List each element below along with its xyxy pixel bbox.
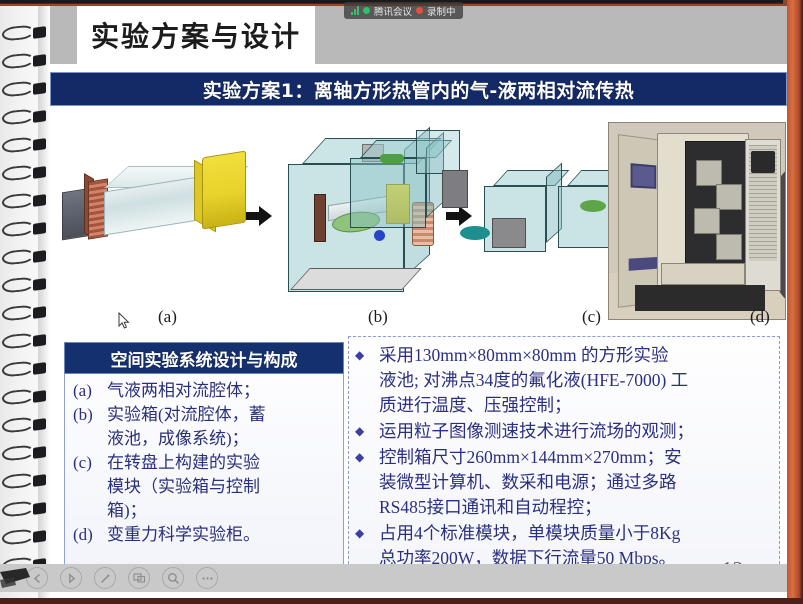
list-item-continuation: 箱)；: [73, 499, 337, 523]
bullet-line: 运用粒子图像测速技术进行流场的观测；: [379, 419, 773, 444]
bullet-item: ◆ 控制箱尺寸260mm×144mm×270mm；安 装微型计算机、数采和电源；…: [355, 445, 773, 520]
green-dot-icon: [363, 7, 370, 14]
list-item-text: 气液两相对流腔体；: [107, 379, 337, 403]
system-design-panel-header: 空间实验系统设计与构成: [64, 342, 344, 374]
capture-right-border: [787, 0, 803, 604]
diamond-bullet-icon: ◆: [355, 419, 379, 444]
list-item-text: 实验箱(对流腔体，蓄: [107, 403, 337, 427]
bullet-line: 质进行温度、压强控制；: [379, 393, 773, 418]
list-item-key: (b): [73, 403, 107, 427]
slide-title-bar: 实验方案1：离轴方形热管内的气-液两相对流传热: [50, 72, 787, 106]
mouse-cursor: [118, 312, 130, 330]
binding-ring: [2, 166, 46, 181]
figure-d: (d): [50, 114, 787, 329]
binding-ring: [2, 446, 46, 461]
binding-ring: [2, 194, 46, 209]
binding-ring: [2, 82, 46, 97]
binding-ring: [2, 110, 46, 125]
bullet-line: 液池; 对沸点34度的氟化液(HFE-7000) 工: [379, 368, 773, 393]
binding-ring: [2, 362, 46, 377]
bullet-line: 控制箱尺寸260mm×144mm×270mm；安: [379, 445, 773, 470]
overlay-mouse-cursor: [0, 566, 44, 592]
zoom-button[interactable]: [162, 567, 184, 589]
diamond-bullet-icon: ◆: [355, 445, 379, 520]
all-slides-button[interactable]: [128, 567, 150, 589]
capture-bottom-border: [0, 598, 803, 604]
figure-d-caption: (d): [750, 307, 770, 327]
binding-ring: [2, 54, 46, 69]
rack-fan: [751, 151, 775, 173]
meeting-recording-badge[interactable]: 腾讯会议 录制中: [344, 2, 463, 19]
binding-ring: [2, 26, 46, 41]
more-options-button[interactable]: [196, 567, 218, 589]
binding-ring: [2, 138, 46, 153]
slideshow-toolbar: [0, 564, 787, 592]
binding-ring: [2, 278, 46, 293]
slide-title-text: 实验方案1：离轴方形热管内的气-液两相对流传热: [203, 76, 635, 103]
list-item-text: 在转盘上构建的实验: [107, 451, 337, 475]
slide-body: 实验方案1：离轴方形热管内的气-液两相对流传热 (a): [50, 64, 787, 598]
list-item-continuation: 模块（实验箱与控制: [73, 475, 337, 499]
figure-strip: (a): [50, 114, 787, 329]
next-slide-button[interactable]: [60, 567, 82, 589]
binding-ring: [2, 222, 46, 237]
bullet-line: 采用130mm×80mm×80mm 的方形实验: [379, 343, 773, 368]
binding-ring: [2, 390, 46, 405]
list-item: (d) 变重力科学实验柜。: [73, 523, 337, 547]
list-item: (c) 在转盘上构建的实验: [73, 451, 337, 475]
binding-ring: [2, 334, 46, 349]
list-item-key: (d): [73, 523, 107, 547]
powerpoint-slide: 实验方案与设计 实验方案1：离轴方形热管内的气-液两相对流传热 (a): [0, 6, 787, 598]
bullet-item: ◆ 运用粒子图像测速技术进行流场的观测；: [355, 419, 773, 444]
rack-base-frame: [635, 285, 765, 311]
bullet-item: ◆ 采用130mm×80mm×80mm 的方形实验 液池; 对沸点34度的氟化液…: [355, 343, 773, 418]
binding-ring: [2, 306, 46, 321]
rack-drawer: [661, 263, 745, 285]
list-item-key: (a): [73, 379, 107, 403]
list-item-text: 变重力科学实验柜。: [107, 523, 337, 547]
recording-status-label: 录制中: [427, 4, 456, 18]
binding-ring: [2, 250, 46, 265]
pen-tool-button[interactable]: [94, 567, 116, 589]
specs-bullet-panel: ◆ 采用130mm×80mm×80mm 的方形实验 液池; 对沸点34度的氟化液…: [348, 336, 780, 584]
binding-ring: [2, 530, 46, 545]
list-item: (a) 气液两相对流腔体；: [73, 379, 337, 403]
binding-ring: [2, 502, 46, 517]
bullet-line: 装微型计算机、数采和电源；通过多路: [379, 470, 773, 495]
diamond-bullet-icon: ◆: [355, 343, 379, 418]
list-item-key: (c): [73, 451, 107, 475]
meeting-app-label: 腾讯会议: [374, 4, 412, 18]
system-design-panel-body: (a) 气液两相对流腔体； (b) 实验箱(对流腔体，蓄 液池，成像系统)； (…: [64, 374, 344, 575]
binding-ring: [2, 418, 46, 433]
binding-ring: [2, 474, 46, 489]
section-header-text: 实验方案与设计: [91, 15, 301, 55]
notebook-binding-decoration: [0, 6, 50, 598]
system-design-panel: 空间实验系统设计与构成 (a) 气液两相对流腔体； (b) 实验箱(对流腔体，蓄…: [64, 342, 344, 578]
rack-photograph: [608, 122, 786, 320]
section-header: 实验方案与设计: [77, 6, 315, 64]
red-dot-icon: [416, 7, 423, 14]
system-design-panel-title: 空间实验系统设计与构成: [111, 346, 298, 371]
bullet-line: RS485接口通讯和自动程控；: [379, 495, 773, 520]
rack-blue-label: [631, 163, 657, 189]
list-item-continuation: 液池，成像系统)；: [73, 427, 337, 451]
list-item: (b) 实验箱(对流腔体，蓄: [73, 403, 337, 427]
signal-bars-icon: [351, 6, 359, 15]
rack-open-left-panel: [618, 134, 661, 308]
screen-capture: 实验方案与设计 实验方案1：离轴方形热管内的气-液两相对流传热 (a): [0, 0, 803, 604]
bullet-line: 占用4个标准模块，单模块质量小于8Kg: [379, 521, 773, 546]
